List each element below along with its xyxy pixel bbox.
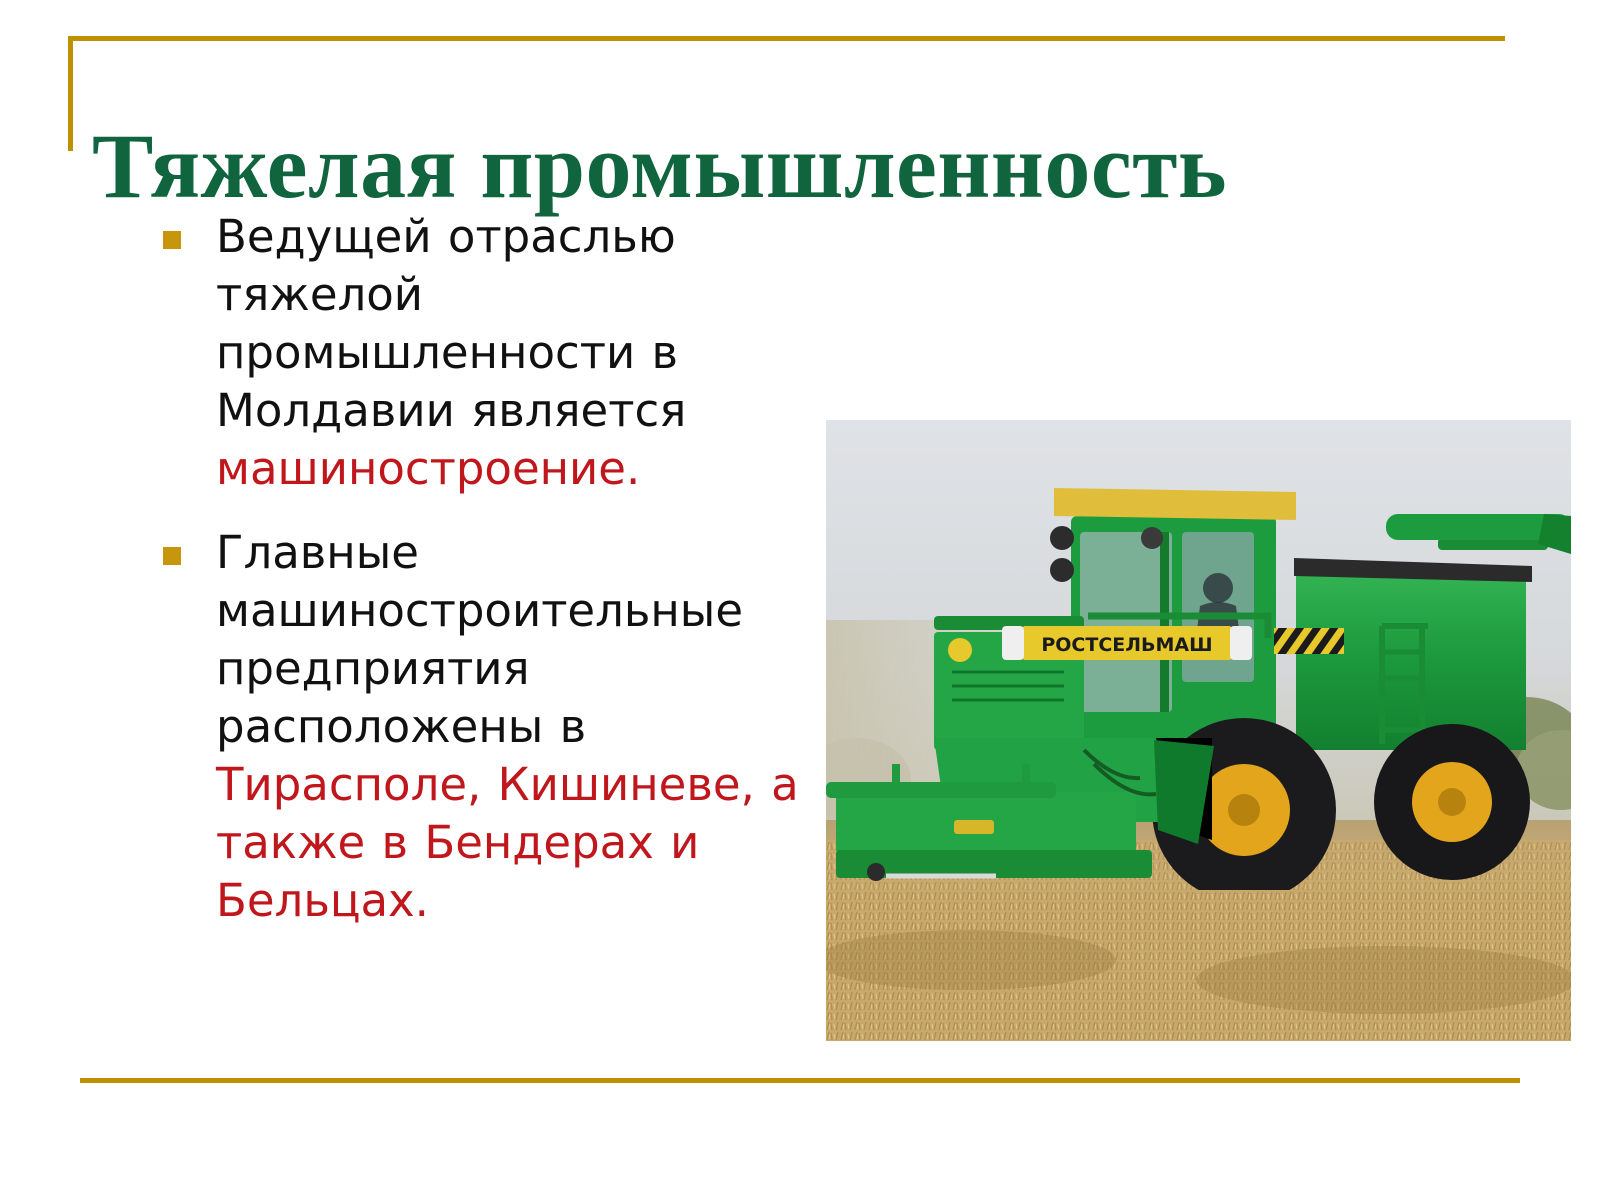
bullet-list: Ведущей отраслью тяжелой промышленности …: [150, 208, 830, 956]
hazard-stripe: [1274, 628, 1344, 654]
work-lamp: [1050, 526, 1074, 550]
bullet-1-lead: Ведущей отраслью тяжелой промышленности …: [216, 210, 686, 437]
bullet-item-2: Главные машиностроительные предприятия р…: [150, 524, 830, 930]
title-rule-left: [68, 36, 73, 151]
slide-title: Тяжелая промышленность: [92, 120, 1492, 212]
grain-tank: [1296, 560, 1526, 750]
reel-arm: [1022, 764, 1030, 794]
rear-wheel: [1374, 724, 1530, 880]
headlight: [1230, 626, 1252, 660]
operator-head: [1203, 573, 1233, 603]
footer-rule: [80, 1078, 1520, 1083]
combine-harvester-photo: РОСТСЕЛЬМАШ: [826, 420, 1571, 1041]
reel-bar: [826, 782, 1056, 798]
cab-pillar: [1160, 532, 1169, 712]
bullet-1-accent: машиностроение.: [216, 442, 640, 495]
reel-arm: [892, 764, 900, 794]
bullet-item-1: Ведущей отраслью тяжелой промышленности …: [150, 208, 830, 498]
divider-tip: [867, 863, 885, 881]
cab-window-front: [1080, 532, 1172, 712]
brand-nameplate: РОСТСЕЛЬМАШ: [1022, 626, 1232, 660]
header-marker: [954, 820, 994, 834]
bullet-text-1: Ведущей отраслью тяжелой промышленности …: [216, 210, 686, 495]
bullet-2-lead: Главные машиностроительные предприятия р…: [216, 526, 743, 753]
work-lamp: [1141, 527, 1163, 549]
brand-emblem: [948, 638, 972, 662]
bullet-text-2: Главные машиностроительные предприятия р…: [216, 526, 799, 927]
combine-harvester-illustration: РОСТСЕЛЬМАШ: [826, 420, 1571, 1041]
title-rule-top: [68, 36, 1505, 41]
square-bullet-icon: [163, 547, 181, 565]
cab-roof: [1054, 488, 1296, 520]
square-bullet-icon: [163, 231, 181, 249]
headlight: [1002, 626, 1024, 660]
brand-nameplate-label: РОСТСЕЛЬМАШ: [1041, 634, 1212, 656]
bullet-2-accent: Тирасполе, Кишиневе, а также в Бендерах …: [216, 758, 799, 927]
work-lamp: [1050, 558, 1074, 582]
